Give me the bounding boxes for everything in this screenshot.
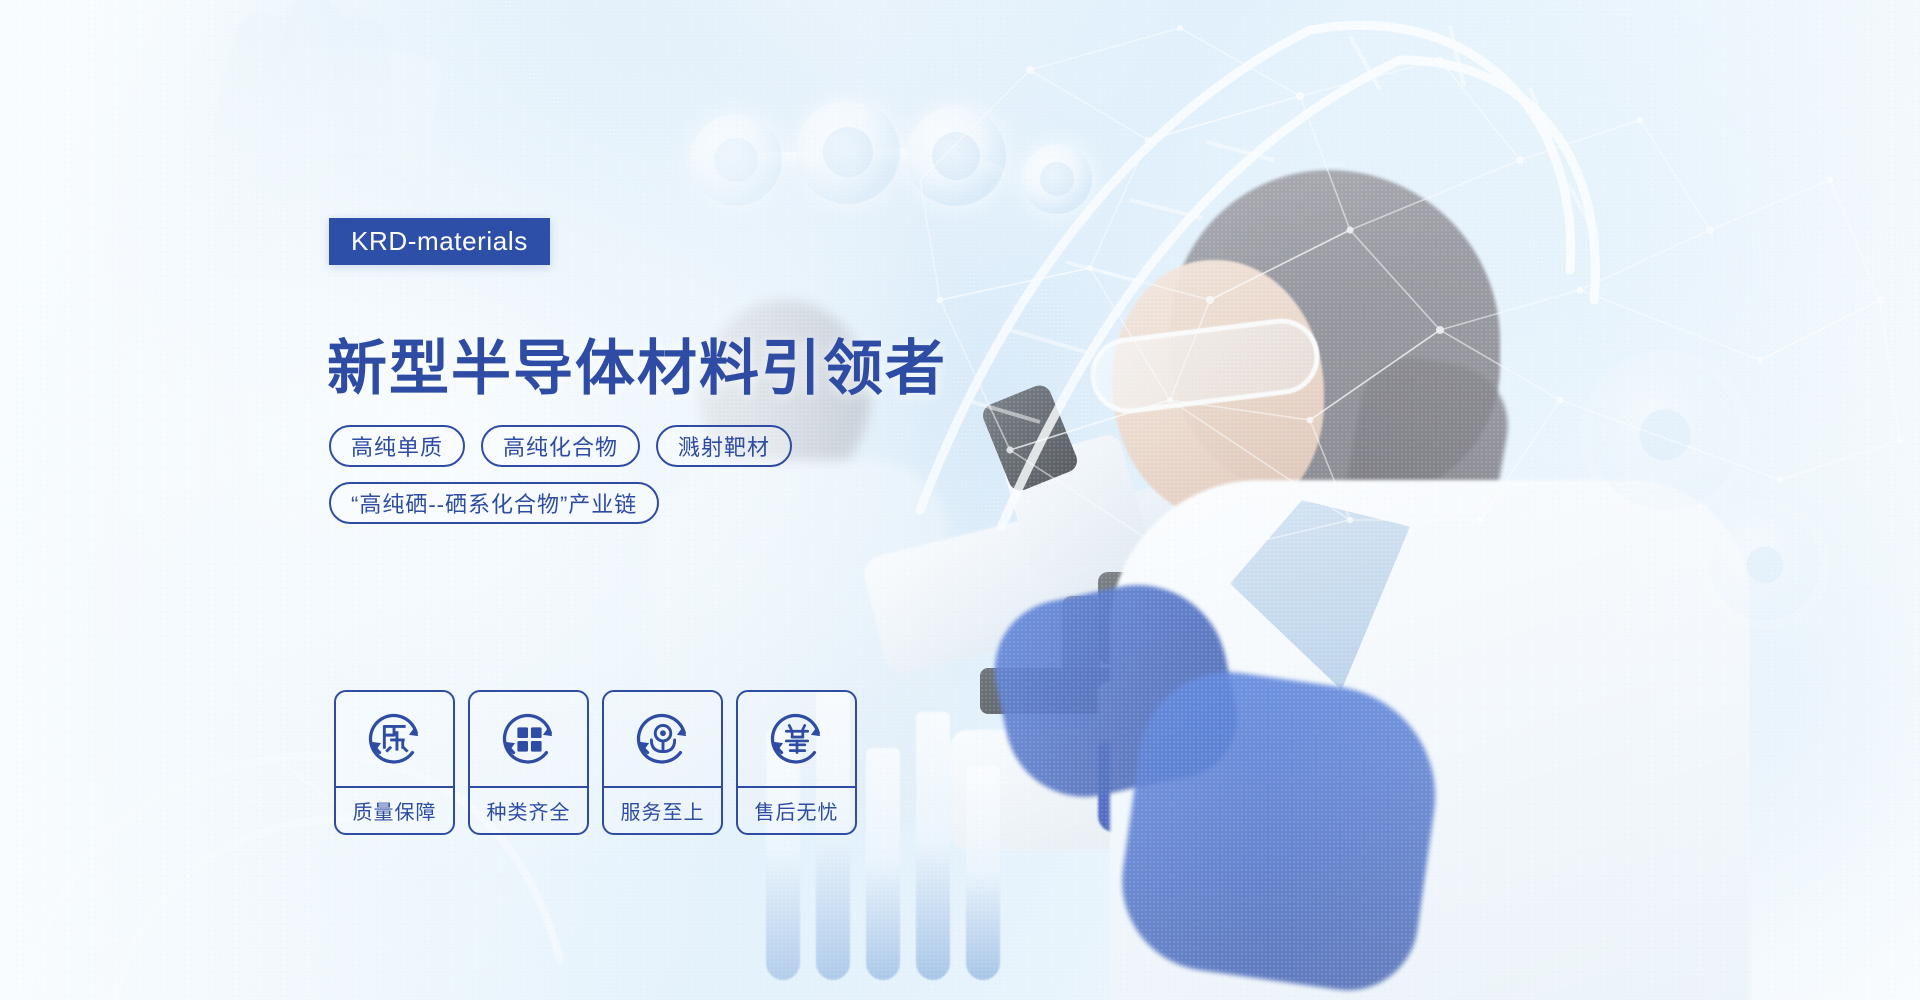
feature-card-after-sales[interactable]: 售后无忧: [736, 690, 857, 835]
feature-card-row: 质量保障: [334, 690, 857, 835]
feature-card-full-category[interactable]: 种类齐全: [468, 690, 589, 835]
brand-badge-label: KRD-materials: [351, 226, 528, 257]
tag-sputtering-target[interactable]: 溅射靶材: [656, 425, 792, 467]
feature-card-service-first[interactable]: 服务至上: [602, 690, 723, 835]
brand-badge: KRD-materials: [329, 218, 550, 265]
feature-label: 服务至上: [604, 786, 721, 833]
feature-label: 售后无忧: [738, 786, 855, 833]
tag-row-primary: 高纯单质 高纯化合物 溅射靶材: [329, 425, 792, 467]
tag-selenium-industry-chain[interactable]: “高纯硒--硒系化合物”产业链: [329, 482, 659, 524]
feature-card-quality-guarantee[interactable]: 质量保障: [334, 690, 455, 835]
hero-banner: KRD-materials 新型半导体材料引领者 高纯单质 高纯化合物 溅射靶材…: [0, 0, 1920, 1000]
page-title: 新型半导体材料引领者: [327, 337, 947, 400]
hero-content: KRD-materials 新型半导体材料引领者 高纯单质 高纯化合物 溅射靶材…: [0, 0, 1920, 1000]
tag-high-purity-element[interactable]: 高纯单质: [329, 425, 465, 467]
full-category-icon: [470, 692, 587, 786]
tag-row-secondary: “高纯硒--硒系化合物”产业链: [329, 482, 659, 524]
quality-guarantee-icon: [336, 692, 453, 786]
feature-label: 种类齐全: [470, 786, 587, 833]
service-first-icon: [604, 692, 721, 786]
tag-high-purity-compound[interactable]: 高纯化合物: [481, 425, 640, 467]
feature-label: 质量保障: [336, 786, 453, 833]
after-sales-icon: [738, 692, 855, 786]
